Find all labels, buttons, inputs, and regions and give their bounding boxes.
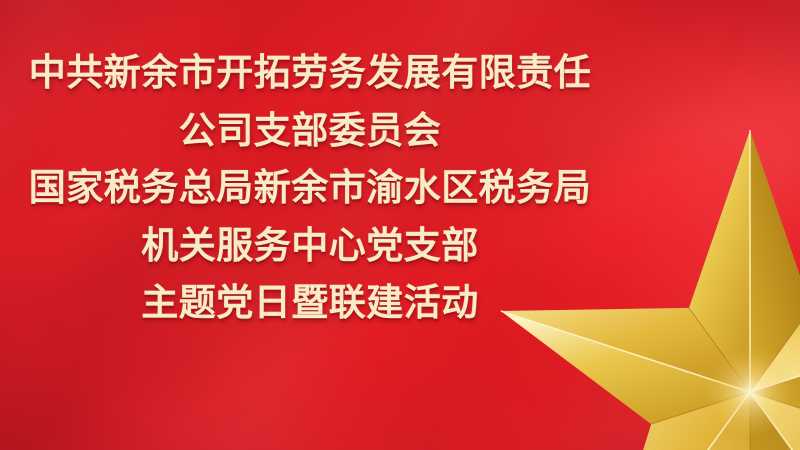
headline-line-3: 国家税务总局新余市渝水区税务局 <box>0 159 620 217</box>
headline-line-5: 主题党日暨联建活动 <box>0 274 620 332</box>
headline-line-4: 机关服务中心党支部 <box>0 217 620 275</box>
headline-block: 中共新余市开拓劳务发展有限责任 公司支部委员会 国家税务总局新余市渝水区税务局 … <box>0 44 620 332</box>
banner-canvas: 中共新余市开拓劳务发展有限责任 公司支部委员会 国家税务总局新余市渝水区税务局 … <box>0 0 800 450</box>
headline-line-2: 公司支部委员会 <box>0 102 620 160</box>
headline-line-1: 中共新余市开拓劳务发展有限责任 <box>0 44 620 102</box>
